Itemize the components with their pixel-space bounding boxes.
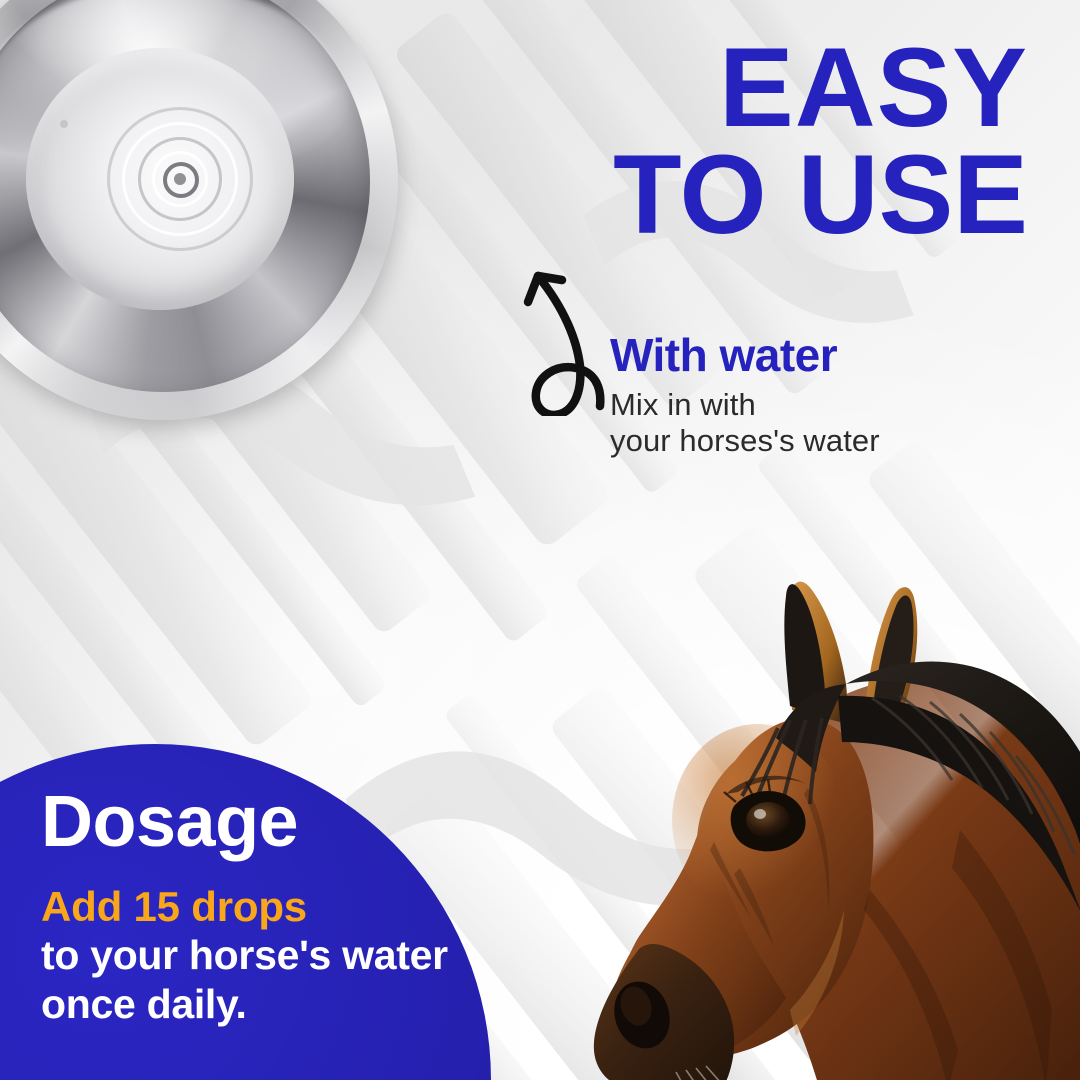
- dosage-highlight: Add 15 drops: [41, 884, 471, 929]
- dosage-badge: Dosage Add 15 drops to your horse's wate…: [0, 744, 491, 1080]
- headline-block: EASY TO USE: [613, 36, 1028, 246]
- curly-arrow-icon: [452, 236, 632, 416]
- callout-block: With water Mix in with your horses's wat…: [610, 331, 1010, 458]
- headline-line-1: EASY: [613, 36, 1028, 139]
- callout-sub-line-2: your horses's water: [610, 423, 1010, 458]
- dosage-text-block: Dosage Add 15 drops to your horse's wate…: [41, 786, 471, 1028]
- dosage-body-line-2: once daily.: [41, 980, 471, 1028]
- poster-canvas: EASY TO USE With water Mix in with your …: [0, 0, 1080, 1080]
- dosage-body: to your horse's water once daily.: [41, 931, 471, 1028]
- callout-sub-line-1: Mix in with: [610, 387, 1010, 422]
- water-bowl-image: [0, 0, 414, 444]
- callout-title: With water: [610, 331, 1010, 379]
- water-bubble-dot: [60, 120, 68, 128]
- headline-line-2: TO USE: [613, 143, 1028, 246]
- dosage-title: Dosage: [41, 786, 471, 858]
- dosage-body-line-1: to your horse's water: [41, 931, 471, 979]
- water-droplet-center: [171, 170, 189, 188]
- horse-head-image: [490, 470, 1080, 1080]
- callout-subtext: Mix in with your horses's water: [610, 387, 1010, 458]
